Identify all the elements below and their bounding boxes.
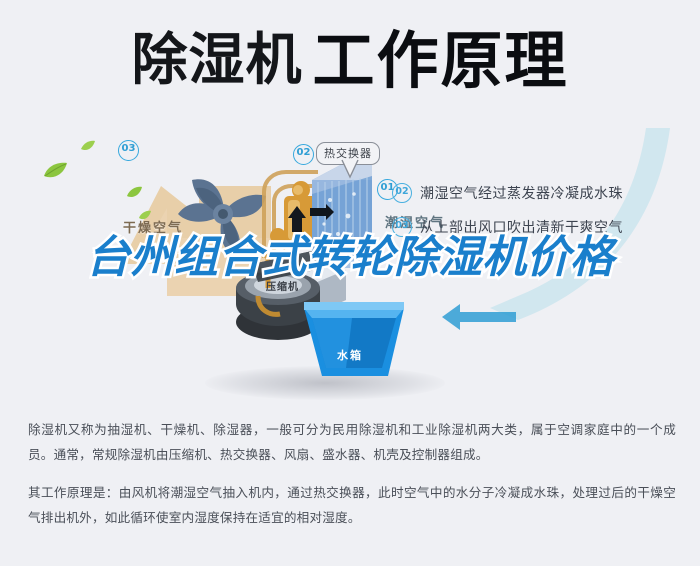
step-text: 从上部出风口吹出清新干爽空气: [420, 217, 623, 237]
step-badge: 02: [392, 183, 412, 203]
step-list: 02 潮湿空气经过蒸发器冷凝成水珠 03 从上部出风口吹出清新干爽空气: [392, 183, 692, 251]
leaf-icon: [126, 186, 143, 199]
page-title: 除湿机 工作原理: [0, 18, 700, 104]
step-text: 潮湿空气经过蒸发器冷凝成水珠: [420, 183, 623, 203]
step-item: 03 从上部出风口吹出清新干爽空气: [392, 217, 692, 237]
diagram-badge-02: 02: [293, 144, 314, 165]
step-badge: 03: [392, 217, 412, 237]
label-water-tank: 水箱: [337, 347, 363, 363]
callout-pointer-icon: [340, 159, 360, 181]
step-item: 02 潮湿空气经过蒸发器冷凝成水珠: [392, 183, 692, 203]
paragraph-2: 其工作原理是：由风机将潮湿空气抽入机内，通过热交换器，此时空气中的水分子冷凝成水…: [28, 481, 676, 530]
label-dry-air: 干燥空气: [123, 217, 183, 236]
water-tank: [300, 298, 410, 386]
leaf-icon: [138, 210, 152, 221]
diagram-badge-03: 03: [118, 140, 139, 161]
label-compressor: 压缩机: [266, 278, 299, 293]
leaf-icon: [80, 140, 96, 152]
page-title-part2: 工作原理: [312, 30, 568, 92]
body-copy: 除湿机又称为抽湿机、干燥机、除湿器，一般可分为民用除湿机和工业除湿机两大类，属于…: [28, 418, 676, 544]
leaf-icon: [42, 162, 68, 180]
dehumidifier-diagram: 干燥空气 潮湿空气: [0, 118, 700, 408]
page-title-part1: 除湿机: [131, 33, 302, 89]
infographic-canvas: 除湿机 工作原理 干燥空气 潮湿空气: [0, 0, 700, 566]
paragraph-1: 除湿机又称为抽湿机、干燥机、除湿器，一般可分为民用除湿机和工业除湿机两大类，属于…: [28, 418, 676, 467]
